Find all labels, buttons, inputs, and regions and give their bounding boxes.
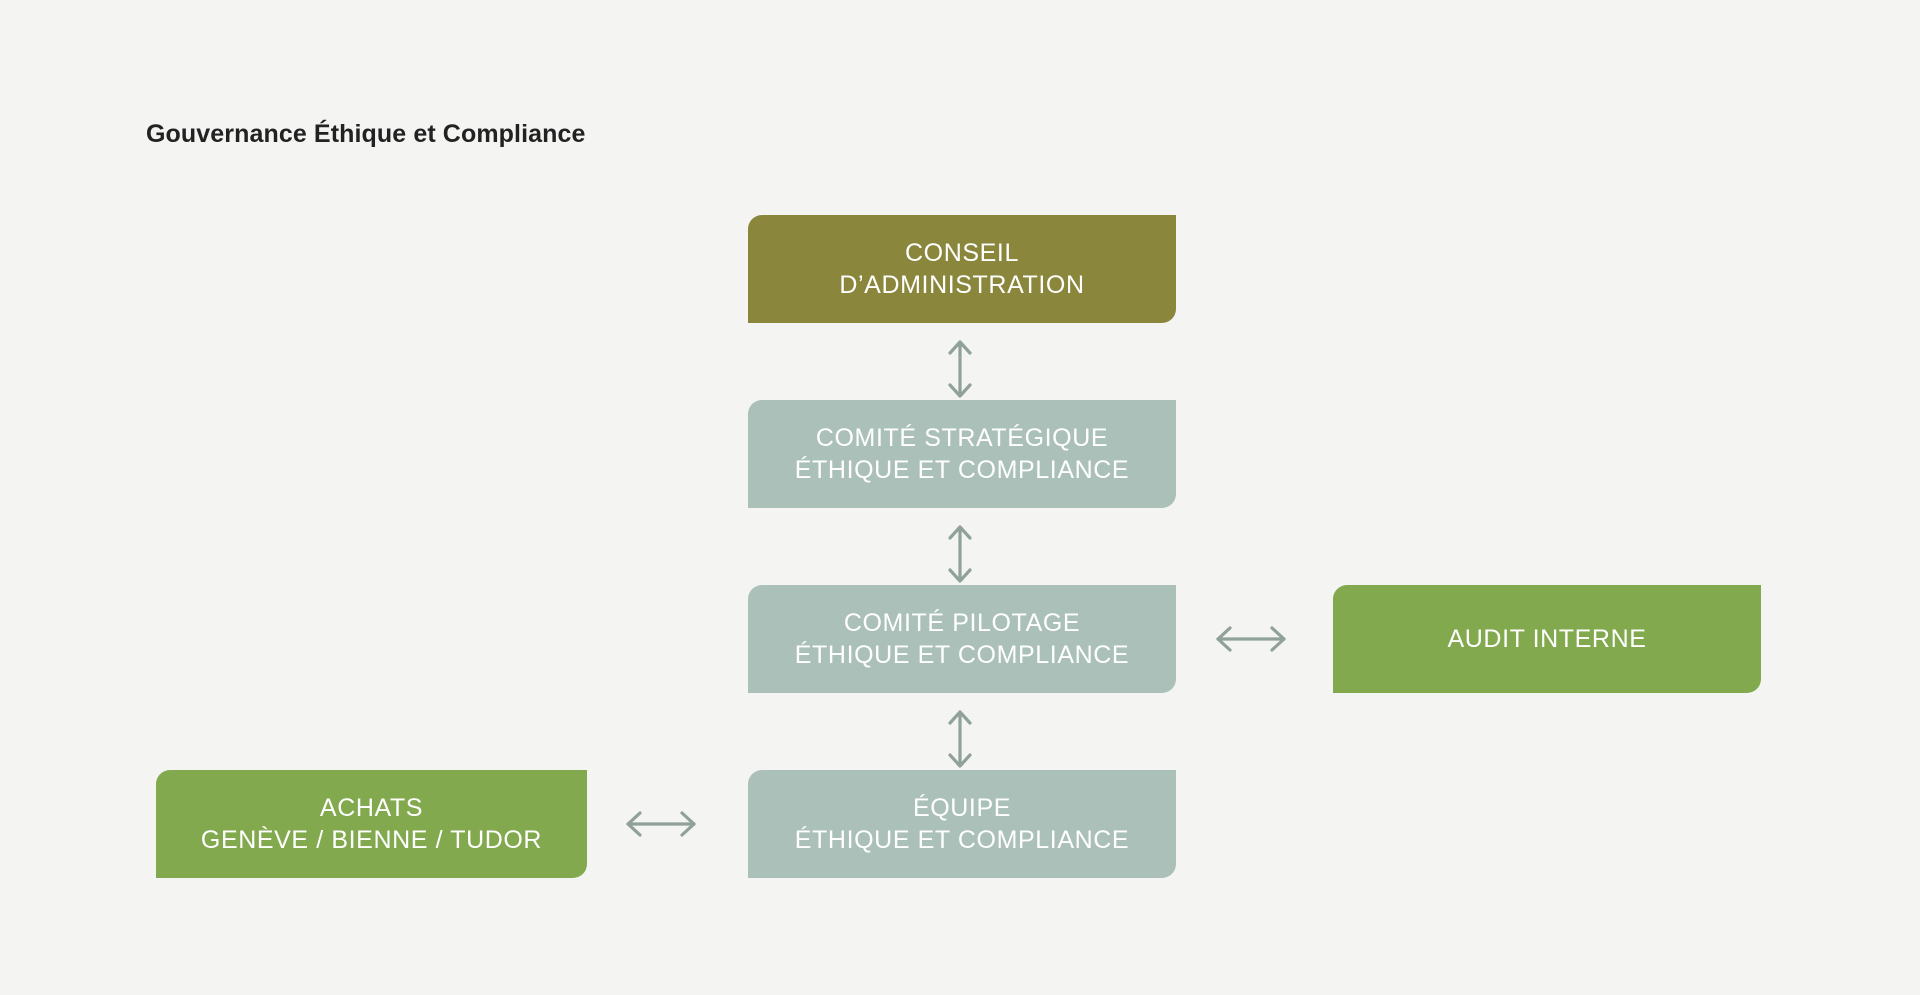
node-equipe-line1: ÉQUIPE [913,792,1011,824]
page-title: Gouvernance Éthique et Compliance [146,120,586,149]
node-strategique-line2: ÉTHIQUE ET COMPLIANCE [795,454,1129,486]
node-achats[interactable]: ACHATS GENÈVE / BIENNE / TUDOR [156,770,587,878]
governance-diagram: Gouvernance Éthique et Compliance CONSEI… [0,0,1920,995]
node-equipe-line2: ÉTHIQUE ET COMPLIANCE [795,824,1129,856]
arrow-vertical-double-icon [941,522,979,586]
node-achats-line2: GENÈVE / BIENNE / TUDOR [201,824,542,856]
node-pilotage-line1: COMITÉ PILOTAGE [844,607,1080,639]
node-audit-interne[interactable]: AUDIT INTERNE [1333,585,1761,693]
node-conseil-line1: CONSEIL [905,237,1019,269]
node-conseil-administration[interactable]: CONSEIL D’ADMINISTRATION [748,215,1176,323]
node-achats-line1: ACHATS [320,792,423,824]
node-equipe-ethique-compliance[interactable]: ÉQUIPE ÉTHIQUE ET COMPLIANCE [748,770,1176,878]
arrow-horizontal-double-icon [1212,618,1290,660]
node-audit-line1: AUDIT INTERNE [1447,623,1646,655]
arrow-horizontal-double-icon [622,803,700,845]
node-comite-pilotage[interactable]: COMITÉ PILOTAGE ÉTHIQUE ET COMPLIANCE [748,585,1176,693]
arrow-vertical-double-icon [941,707,979,771]
arrow-vertical-double-icon [941,337,979,401]
node-strategique-line1: COMITÉ STRATÉGIQUE [816,422,1108,454]
node-conseil-line2: D’ADMINISTRATION [839,269,1084,301]
node-pilotage-line2: ÉTHIQUE ET COMPLIANCE [795,639,1129,671]
node-comite-strategique[interactable]: COMITÉ STRATÉGIQUE ÉTHIQUE ET COMPLIANCE [748,400,1176,508]
